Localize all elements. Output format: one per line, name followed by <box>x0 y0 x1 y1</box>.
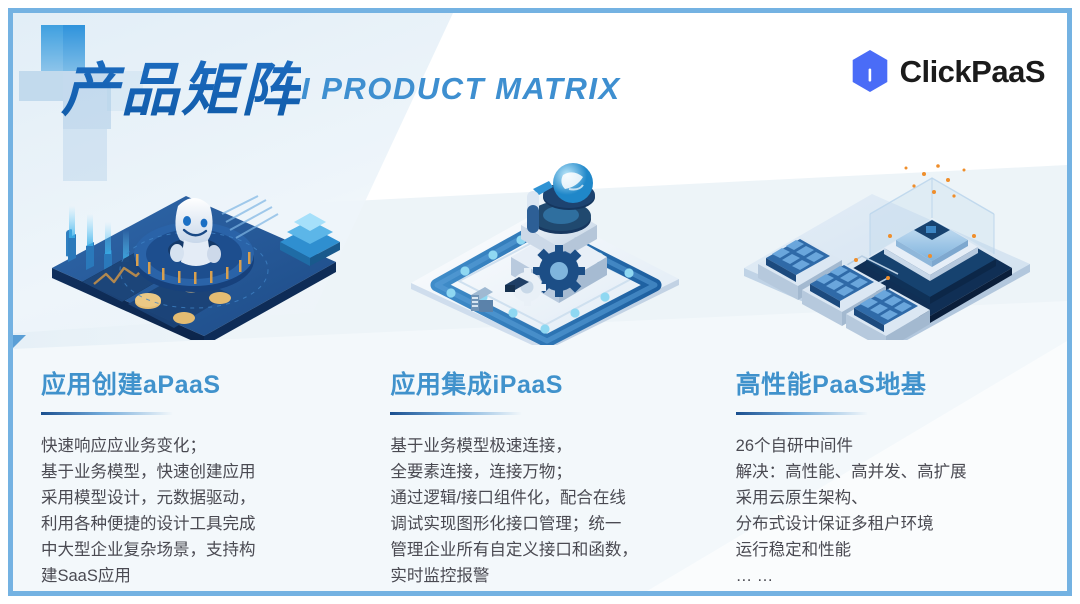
robot-platform-illustration <box>41 145 346 345</box>
page-title: 产品矩阵 <box>61 43 301 127</box>
clickpaas-hexagon-logo-icon <box>850 49 890 93</box>
slide-frame: 产品矩阵 I PRODUCT MATRIX ClickPaaS <box>8 8 1072 596</box>
column-heading: 应用创建aPaaS <box>41 365 346 401</box>
slide-header: 产品矩阵 I PRODUCT MATRIX ClickPaaS <box>13 13 1067 143</box>
brand-logo: ClickPaaS <box>850 49 1045 93</box>
product-column-ipaas: 应用集成iPaaS 基于业务模型极速连接， 全要素连接，连接万物； 通过逻辑/接… <box>372 145 721 596</box>
product-matrix-slide: 产品矩阵 I PRODUCT MATRIX ClickPaaS <box>0 0 1080 604</box>
column-body-text: 26个自研中间件 解决：高性能、高并发、高扩展 采用云原生架构、 分布式设计保证… <box>736 433 1041 589</box>
column-body-text: 基于业务模型极速连接， 全要素连接，连接万物； 通过逻辑/接口组件化，配合在线 … <box>390 433 695 589</box>
column-divider <box>390 412 522 415</box>
brand-name: ClickPaaS <box>900 56 1045 87</box>
product-column-apaas: 应用创建aPaaS 快速响应应业务变化； 基于业务模型，快速创建应用 采用模型设… <box>13 145 372 596</box>
column-divider <box>41 412 173 415</box>
column-heading: 高性能PaaS地基 <box>736 365 1041 401</box>
column-heading: 应用集成iPaaS <box>390 365 695 401</box>
column-divider <box>736 412 868 415</box>
globe-gear-conveyor-illustration <box>390 145 695 345</box>
column-body-text: 快速响应应业务变化； 基于业务模型，快速创建应用 采用模型设计，元数据驱动， 利… <box>41 433 346 589</box>
page-subtitle: I PRODUCT MATRIX <box>301 71 621 107</box>
server-racks-pyramid-illustration <box>736 145 1041 345</box>
product-column-paas-foundation: 高性能PaaS地基 26个自研中间件 解决：高性能、高并发、高扩展 采用云原生架… <box>722 145 1067 596</box>
product-columns: 应用创建aPaaS 快速响应应业务变化； 基于业务模型，快速创建应用 采用模型设… <box>13 145 1067 596</box>
